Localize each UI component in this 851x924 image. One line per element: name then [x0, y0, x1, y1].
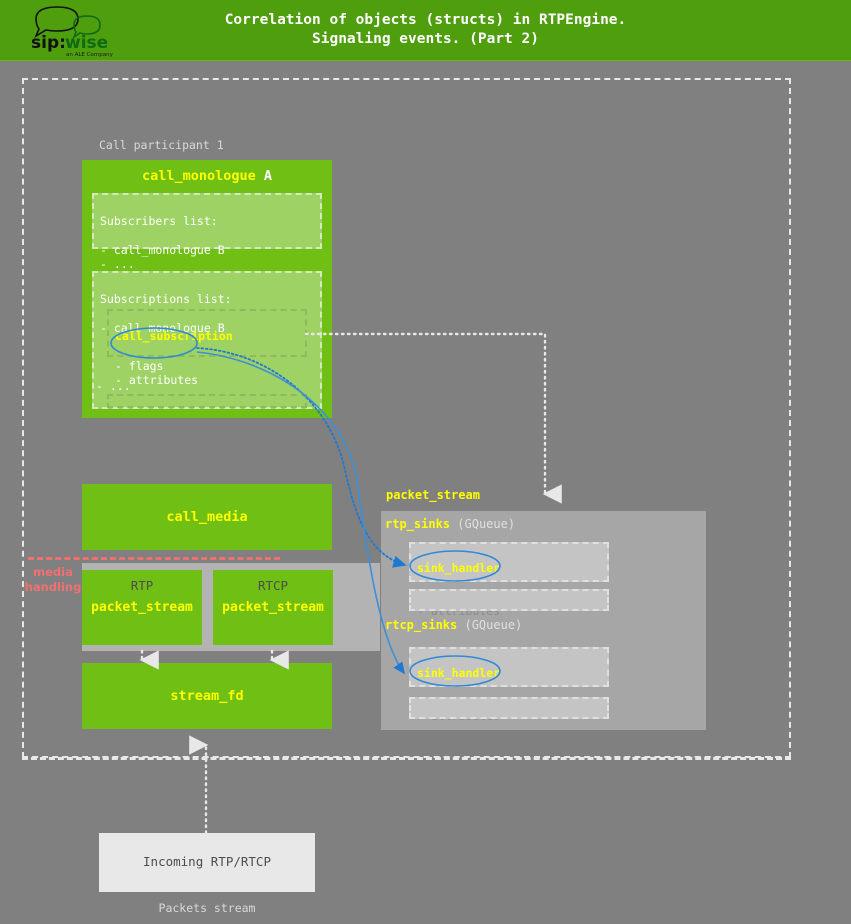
call-media-box[interactable]: call_media [82, 484, 332, 550]
call-subscription-title: call_subscription [115, 329, 299, 344]
scope-bottom-divider [22, 757, 791, 760]
rtcp-sink-placeholder-box [409, 697, 609, 719]
rtp-sink-handler-box[interactable]: sink_handler - flags - attributes [409, 542, 609, 582]
call-monologue-id: A [264, 168, 272, 184]
packet-stream-title: packet_stream [386, 488, 480, 502]
incoming-packets-label: Incoming RTP/RTCP [99, 854, 315, 869]
stream-fd-box[interactable]: stream_fd [82, 663, 332, 729]
page-header: sip: wise an ALE Company Correlation of … [0, 0, 851, 61]
rtcp-packet-stream-box[interactable]: RTCP packet_stream [213, 570, 333, 645]
rtcp-sinks-type: (GQueue) [464, 618, 522, 632]
rtcp-sinks-label: rtcp_sinks (GQueue) [385, 618, 522, 632]
rtp-sink-handler-title: sink_handler [417, 561, 601, 576]
rtp-sinks-label: rtp_sinks (GQueue) [385, 517, 515, 531]
svg-text:an ALE Company: an ALE Company [66, 52, 114, 58]
rtcp-sink-handler-box[interactable]: sink_handler - flags - attributes [409, 647, 609, 687]
rtp-label: packet_stream [82, 600, 202, 615]
subscriptions-heading: Subscriptions list: [100, 292, 232, 306]
rtp-sinks-type: (GQueue) [457, 517, 515, 531]
rtcp-sinks-name: rtcp_sinks [385, 618, 457, 632]
rtcp-label: packet_stream [213, 600, 333, 615]
call-monologue-title-text: call_monologue [142, 168, 256, 184]
incoming-packets-box[interactable]: Incoming RTP/RTCP [99, 833, 315, 892]
call-monologue-title: call_monologue A [82, 168, 332, 184]
rtcp-sink-handler-title: sink_handler [417, 666, 601, 681]
rtp-sink-placeholder-box [409, 589, 609, 611]
stream-fd-label: stream_fd [82, 688, 332, 704]
media-handling-divider [28, 557, 280, 560]
rtp-sinks-name: rtp_sinks [385, 517, 450, 531]
media-handling-label: media handling [21, 565, 85, 594]
rtp-sublabel: RTP [82, 578, 202, 593]
call-subscription-box[interactable]: call_subscription - flags - attributes [107, 309, 307, 357]
subscriptions-more: - ... [96, 379, 131, 393]
diagram-root: sip: wise an ALE Company Correlation of … [0, 0, 851, 924]
page-title: Correlation of objects (structs) in RTPE… [0, 11, 851, 49]
call-monologue-title-suffix [256, 168, 264, 184]
subscribers-heading: Subscribers list: [100, 214, 218, 228]
packet-stream-container: rtp_sinks (GQueue) sink_handler - flags … [381, 511, 706, 730]
rtp-packet-stream-box[interactable]: RTP packet_stream [82, 570, 202, 645]
call-participant-label: Call participant 1 [99, 138, 224, 152]
subscribers-list-panel: Subscribers list: - call_monologue B - .… [92, 193, 322, 249]
call-subscription-placeholder-box [107, 394, 307, 408]
rtcp-sublabel: RTCP [213, 578, 333, 593]
packets-stream-caption: Packets stream [99, 901, 315, 915]
call-media-label: call_media [82, 509, 332, 525]
